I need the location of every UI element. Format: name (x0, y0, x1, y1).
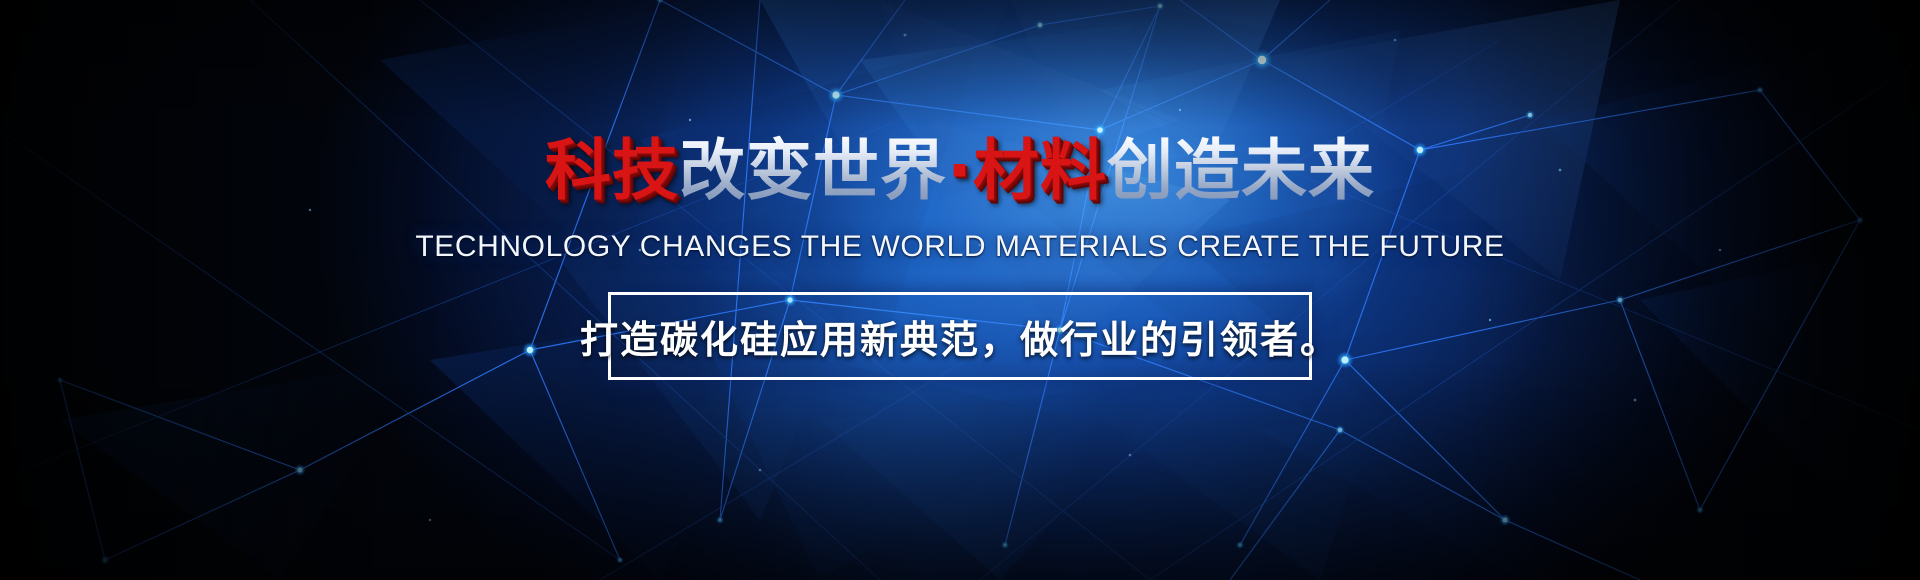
slogan-text: 打造碳化硅应用新典范，做行业的引领者。 (580, 309, 1340, 364)
headline-segment-cailiao: 材料 (973, 132, 1107, 209)
hero-banner: 科技改变世界·材料创造未来 TECHNOLOGY CHANGES THE WOR… (0, 0, 1920, 580)
headline-segment-chuangzaoweilai: 创造未来 (1107, 132, 1375, 209)
banner-content: 科技改变世界·材料创造未来 TECHNOLOGY CHANGES THE WOR… (0, 0, 1920, 580)
headline-segment-gaibianshijie: 改变世界 (679, 132, 947, 209)
slogan-box: 打造碳化硅应用新典范，做行业的引领者。 (608, 292, 1312, 380)
headline-subtitle-english: TECHNOLOGY CHANGES THE WORLD MATERIALS C… (415, 230, 1504, 264)
headline-segment-keji: 科技 (545, 132, 679, 209)
headline-separator-dot: · (947, 132, 973, 209)
headline: 科技改变世界·材料创造未来 (545, 138, 1375, 204)
